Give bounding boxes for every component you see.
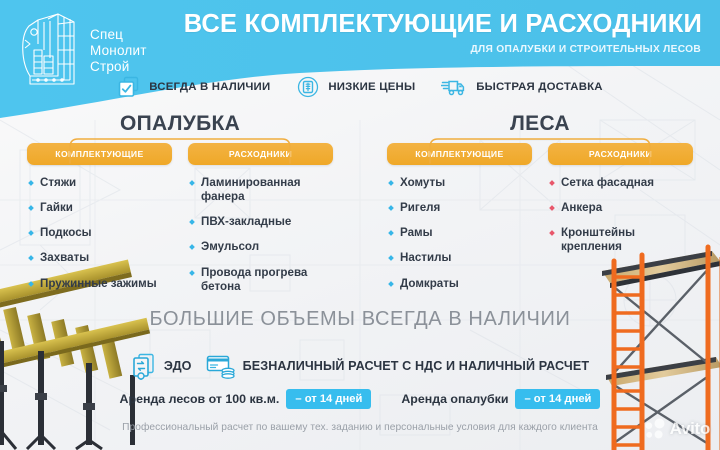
group-connector	[360, 139, 720, 163]
column-komplektuyushchie: КОМПЛЕКТУЮЩИЕ Хомуты Ригеля Рамы Настилы…	[387, 143, 532, 302]
list-item: Провода прогрева бетона	[188, 266, 333, 294]
rent-item-scaffolding: Аренда лесов от 100 кв.м. – от 14 дней	[120, 389, 372, 409]
item-list: Ламинированная фанера ПВХ-закладные Эмул…	[188, 176, 333, 294]
list-item: Настилы	[387, 251, 532, 265]
list-item: ПВХ-закладные	[188, 215, 333, 229]
list-item: Ригеля	[387, 201, 532, 215]
column-komplektuyushchie: КОМПЛЕКТУЮЩИЕ Стяжи Гайки Подкосы Захват…	[27, 143, 172, 305]
delivery-truck-icon	[441, 75, 468, 99]
feature-item-availability: ВСЕГДА В НАЛИЧИИ	[117, 75, 270, 99]
payment-label: ЭДО	[164, 359, 192, 373]
rent-text: Аренда опалубки	[401, 392, 508, 406]
payment-row: ЭДО БЕЗНАЛИЧНЫЙ РАСЧЕТ С НДС И НАЛИЧНЫЙ …	[0, 352, 720, 380]
group-connector	[0, 139, 360, 163]
brand-name-line1: Спец	[90, 27, 147, 43]
feature-label: ВСЕГДА В НАЛИЧИИ	[149, 81, 270, 93]
list-item: Захваты	[27, 251, 172, 265]
low-price-tag-icon	[296, 75, 320, 99]
group-lesa: ЛЕСА КОМПЛЕКТУЮЩИЕ Хомуты Ригеля Рамы На…	[360, 112, 720, 305]
brand-name: Спец Монолит Строй	[90, 27, 147, 75]
list-item: Подкосы	[27, 226, 172, 240]
list-item: Рамы	[387, 226, 532, 240]
list-item: Эмульсол	[188, 240, 333, 254]
list-item: Хомуты	[387, 176, 532, 190]
rent-item-formwork: Аренда опалубки – от 14 дней	[401, 389, 600, 409]
list-item: Домкраты	[387, 277, 532, 291]
list-item: Ламинированная фанера	[188, 176, 333, 204]
list-item: Пружинные зажимы	[27, 277, 172, 291]
volume-title: БОЛЬШИЕ ОБЪЕМЫ ВСЕГДА В НАЛИЧИИ	[0, 308, 720, 331]
bracket-connector-icon	[62, 135, 298, 165]
column-raskhodniki: РАСХОДНИКИ Ламинированная фанера ПВХ-зак…	[188, 143, 333, 305]
page-title: ВСЕ КОМПЛЕКТУЮЩИЕ И РАСХОДНИКИ	[184, 10, 702, 39]
disclaimer-text: Профессиональный расчет по вашему тех. з…	[0, 422, 720, 433]
payment-label: БЕЗНАЛИЧНЫЙ РАСЧЕТ С НДС И НАЛИЧНЫЙ РАСЧ…	[243, 359, 590, 373]
item-list: Хомуты Ригеля Рамы Настилы Домкраты	[387, 176, 532, 291]
feature-label: НИЗКИЕ ЦЕНЫ	[328, 81, 415, 93]
product-groups: ОПАЛУБКА КОМПЛЕКТУЮЩИЕ Стяжи Гайки Подко…	[0, 112, 720, 305]
item-list: Сетка фасадная Анкера Кронштейны креплен…	[548, 176, 693, 255]
item-list: Стяжи Гайки Подкосы Захваты Пружинные за…	[27, 176, 172, 291]
payment-item-edo: ЭДО	[131, 352, 192, 380]
feature-list: ВСЕГДА В НАЛИЧИИ НИЗКИЕ ЦЕНЫ БЫСТРАЯ ДО	[0, 75, 720, 99]
rent-row: Аренда лесов от 100 кв.м. – от 14 дней А…	[0, 389, 720, 409]
checkbox-stack-icon	[117, 75, 141, 99]
group-opalubka: ОПАЛУБКА КОМПЛЕКТУЮЩИЕ Стяжи Гайки Подко…	[0, 112, 360, 305]
list-item: Стяжи	[27, 176, 172, 190]
feature-label: БЫСТРАЯ ДОСТАВКА	[476, 81, 602, 93]
edo-document-exchange-icon	[131, 352, 157, 380]
feature-item-fast-delivery: БЫСТРАЯ ДОСТАВКА	[441, 75, 602, 99]
list-item: Гайки	[27, 201, 172, 215]
brand-name-line2: Монолит	[90, 43, 147, 59]
card-and-cash-icon	[206, 353, 236, 379]
column-raskhodniki: РАСХОДНИКИ Сетка фасадная Анкера Кронште…	[548, 143, 693, 302]
rent-text: Аренда лесов от 100 кв.м.	[120, 392, 280, 406]
page-subtitle: ДЛЯ ОПАЛУБКИ И СТРОИТЕЛЬНЫХ ЛЕСОВ	[470, 44, 701, 55]
list-item: Анкера	[548, 201, 693, 215]
promo-poster: Спец Монолит Строй ВСЕ КОМПЛЕКТУЮЩИЕ И Р…	[0, 0, 720, 450]
brand-name-line3: Строй	[90, 59, 147, 75]
rent-badge[interactable]: – от 14 дней	[515, 389, 600, 409]
rent-badge[interactable]: – от 14 дней	[286, 389, 371, 409]
list-item: Кронштейны крепления	[548, 226, 693, 254]
payment-item-cashless: БЕЗНАЛИЧНЫЙ РАСЧЕТ С НДС И НАЛИЧНЫЙ РАСЧ…	[206, 353, 590, 379]
feature-item-low-prices: НИЗКИЕ ЦЕНЫ	[296, 75, 415, 99]
list-item: Сетка фасадная	[548, 176, 693, 190]
bracket-connector-icon	[422, 135, 658, 165]
